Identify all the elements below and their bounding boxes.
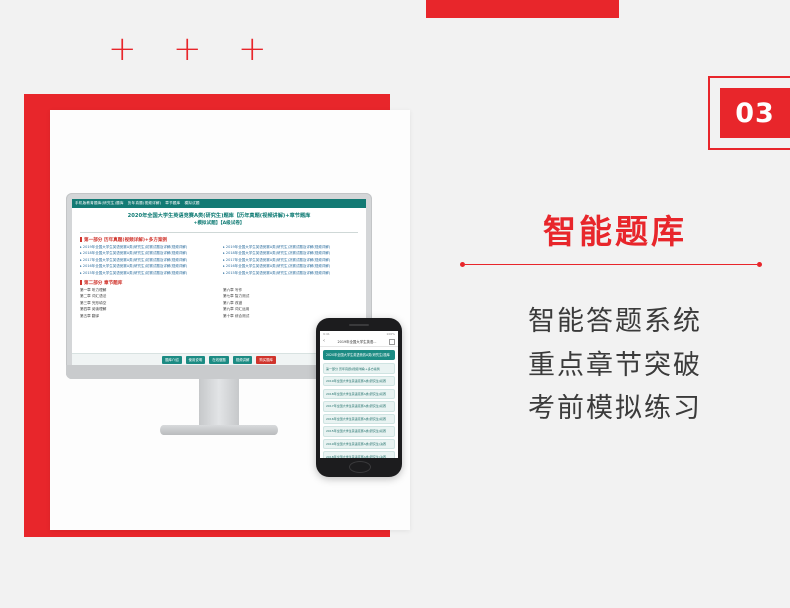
footer-button-video[interactable]: 视频讲解 (233, 356, 253, 364)
topbar-item-1[interactable]: 历年真题(视频详解) (128, 201, 162, 206)
phone-screen: 9:41 100% ‹ 2019年全国大学生英语... 2020年全国大学生英语… (320, 331, 398, 458)
phone-list-item[interactable]: 2015年全国大学生英语竞赛A类(研究生)初赛 (323, 426, 395, 436)
chapter-item[interactable]: 第八章 改错 (223, 301, 358, 306)
divider-line (465, 264, 757, 265)
phone-list-heading: 第一部分 历年真题(视频详解)+多方案例 (323, 363, 395, 373)
footer-button-online-practice[interactable]: 在线做题 (209, 356, 229, 364)
feature-item-1: 智能答题系统 (460, 300, 770, 344)
feature-item-3: 考前模拟练习 (460, 387, 770, 431)
exam-link[interactable]: 2019年全国大学生英语竞赛A类(研究生)决赛试题及详解(视频详解) (223, 245, 358, 250)
status-time: 9:41 (323, 332, 330, 336)
phone-banner: 2020年全国大学生英语竞赛A类(研究生)题库 (323, 350, 395, 360)
back-arrow-icon[interactable]: ‹ (323, 339, 325, 344)
chapter-item[interactable]: 第九章 词汇运用 (223, 307, 358, 312)
phone-nav-title: 2019年全国大学生英语... (327, 339, 387, 344)
mobile-phone: 9:41 100% ‹ 2019年全国大学生英语... 2020年全国大学生英语… (316, 318, 402, 477)
plus-mark-2: + (173, 32, 202, 66)
phone-list-item[interactable]: 2016年全国大学生英语竞赛A类(研究生)初赛 (323, 414, 395, 424)
plus-mark-3: + (238, 32, 267, 66)
chapter-item[interactable]: 第六章 写作 (223, 288, 358, 293)
screen-topbar: 手机版教育题库(研究生)题库 历年真题(视频详解) 章节题库 模拟试题 (72, 199, 366, 208)
phone-list-item[interactable]: 2017年全国大学生英语竞赛A类(研究生)初赛 (323, 401, 395, 411)
feature-item-2: 重点章节突破 (460, 344, 770, 388)
topbar-item-3[interactable]: 模拟试题 (184, 201, 199, 206)
chapter-item[interactable]: 第四章 阅读理解 (80, 307, 215, 312)
footer-button-purchase[interactable]: 购买题库 (256, 356, 276, 364)
section-number-badge: 03 (720, 88, 790, 138)
phone-home-button-icon[interactable] (349, 461, 371, 473)
section-2-heading-text: 第二部分 章节题库 (84, 281, 122, 286)
status-battery: 100% (386, 332, 395, 336)
monitor-stand-base (160, 425, 278, 435)
phone-list-item[interactable]: 2019年全国大学生英语竞赛A类(研究生)决赛 (323, 439, 395, 449)
section-1-heading-text: 第一部分 历年真题(视频详解)+多方案例 (84, 238, 167, 243)
poster-stage: + + + 手机版教育题库(研究生)题库 历年真题(视频详解) 章节题库 模拟试… (0, 0, 790, 608)
exam-link[interactable]: 2018年全国大学生英语竞赛A类(研究生)决赛试题及详解(视频详解) (223, 251, 358, 256)
exam-link[interactable]: 2015年全国大学生英语竞赛A类(研究生)初赛试题及详解(视频详解) (80, 271, 215, 276)
menu-icon[interactable] (389, 339, 395, 345)
exam-link[interactable]: 2016年全国大学生英语竞赛A类(研究生)决赛试题及详解(视频详解) (223, 264, 358, 269)
chapter-item[interactable]: 第三章 完形填空 (80, 301, 215, 306)
exam-link[interactable]: 2017年全国大学生英语竞赛A类(研究生)初赛试题及详解(视频详解) (80, 258, 215, 263)
divider-dot-right (757, 262, 762, 267)
chapter-item[interactable]: 第一章 听力理解 (80, 288, 215, 293)
topbar-item-0[interactable]: 手机版教育题库(研究生)题库 (75, 201, 124, 206)
top-red-bar (426, 0, 619, 18)
chapter-item[interactable]: 第五章 翻译 (80, 314, 215, 319)
section-1-heading: 第一部分 历年真题(视频详解)+多方案例 (72, 233, 366, 245)
topbar-item-2[interactable]: 章节题库 (165, 201, 180, 206)
screen-title-sub: +模拟试题】【A级试卷】 (82, 221, 356, 228)
page-title: 智能题库 (460, 205, 770, 253)
screen-title: 2020年全国大学生英语竞赛A类(研究生)题库【历年真题(视频讲解)+章节题库 … (72, 208, 366, 229)
exam-link-grid: 2019年全国大学生英语竞赛A类(研究生)初赛试题及详解(视频详解) 2019年… (72, 245, 366, 276)
exam-link[interactable]: 2018年全国大学生英语竞赛A类(研究生)初赛试题及详解(视频详解) (80, 251, 215, 256)
plus-glyph: + (238, 32, 267, 66)
footer-button-instructions[interactable]: 使用说明 (186, 356, 206, 364)
phone-list-item[interactable]: 2019年全国大学生英语竞赛A类(研究生)初赛 (323, 376, 395, 386)
exam-link[interactable]: 2016年全国大学生英语竞赛A类(研究生)初赛试题及详解(视频详解) (80, 264, 215, 269)
phone-nav-bar: ‹ 2019年全国大学生英语... (320, 337, 398, 347)
section-2-heading: 第二部分 章节题库 (72, 276, 366, 288)
plus-mark-1: + (108, 32, 137, 66)
screen-title-main: 2020年全国大学生英语竞赛A类(研究生)题库【历年真题(视频讲解)+章节题库 (128, 213, 311, 219)
section-marker-icon (80, 237, 82, 242)
chapter-item[interactable]: 第二章 词汇语法 (80, 294, 215, 299)
plus-glyph: + (173, 32, 202, 66)
footer-button-intro[interactable]: 题库介绍 (162, 356, 182, 364)
chapter-item[interactable]: 第七章 智力测试 (223, 294, 358, 299)
phone-list-item[interactable]: 2018年全国大学生英语竞赛A类(研究生)决赛 (323, 451, 395, 458)
phone-speaker-icon (349, 324, 369, 326)
monitor-stand-neck (199, 379, 239, 427)
plus-glyph: + (108, 32, 137, 66)
phone-list: 第一部分 历年真题(视频详解)+多方案例 2019年全国大学生英语竞赛A类(研究… (320, 363, 398, 458)
section-marker-icon (80, 280, 82, 285)
exam-link[interactable]: 2017年全国大学生英语竞赛A类(研究生)决赛试题及详解(视频详解) (223, 258, 358, 263)
exam-link[interactable]: 2015年全国大学生英语竞赛A类(研究生)决赛试题及详解(视频详解) (223, 271, 358, 276)
chapter-grid: 第一章 听力理解 第六章 写作 第二章 词汇语法 第七章 智力测试 第三章 完形… (72, 288, 366, 319)
phone-list-item[interactable]: 2018年全国大学生英语竞赛A类(研究生)初赛 (323, 389, 395, 399)
title-divider-decoration (460, 260, 762, 268)
feature-list: 智能答题系统 重点章节突破 考前模拟练习 (460, 300, 770, 431)
exam-link[interactable]: 2019年全国大学生英语竞赛A类(研究生)初赛试题及详解(视频详解) (80, 245, 215, 250)
